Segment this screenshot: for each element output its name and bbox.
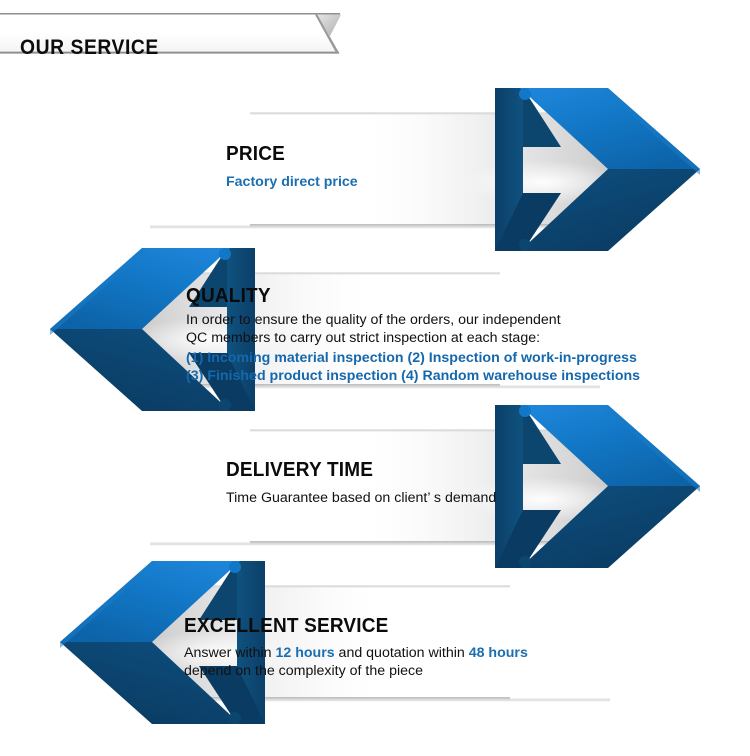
section-line-delivery-time-0: Time Guarantee based on client’ s demand xyxy=(226,489,496,507)
section-title-quality: QUALITY xyxy=(186,286,271,307)
section-line-quality-2: (1) Incoming material inspection (2) Ins… xyxy=(186,349,637,367)
section-line-quality-1: QC members to carry out strict inspectio… xyxy=(186,329,540,347)
section-title-excellent-service: EXCELLENT SERVICE xyxy=(184,616,389,637)
excellent-part-2: and quotation within xyxy=(335,645,469,661)
arrow-right-shape xyxy=(0,83,750,268)
section-title-delivery-time: DELIVERY TIME xyxy=(226,460,373,481)
header-banner: OUR SERVICE xyxy=(0,14,340,54)
section-line-quality-0: In order to ensure the quality of the or… xyxy=(186,311,561,329)
section-line-excellent-service-0: Answer within 12 hours and quotation wit… xyxy=(184,644,528,662)
service-infographic: OUR SERVICE xyxy=(0,0,750,756)
page-title: OUR SERVICE xyxy=(20,28,296,68)
excellent-highlight-12-hours: 12 hours xyxy=(275,645,334,661)
section-title-price: PRICE xyxy=(226,144,285,165)
section-line-price-0: Factory direct price xyxy=(226,173,358,191)
section-line-excellent-service-1: depend on the complexity of the piece xyxy=(184,662,423,680)
excellent-highlight-48-hours: 48 hours xyxy=(469,645,528,661)
service-row-price: PRICE Factory direct price xyxy=(0,83,750,268)
section-line-quality-3: (3) Finished product inspection (4) Rand… xyxy=(186,367,640,385)
service-row-excellent-service: EXCELLENT SERVICE Answer within 12 hours… xyxy=(0,556,750,746)
excellent-part-0: Answer within xyxy=(184,645,275,661)
